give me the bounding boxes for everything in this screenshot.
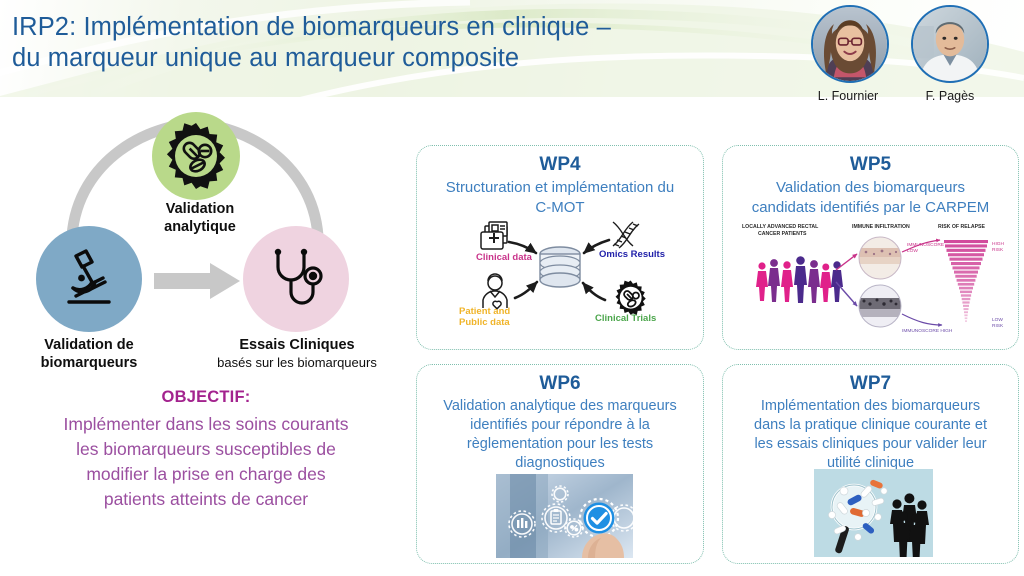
label-analytical-validation: Validation analytique — [140, 200, 260, 236]
wp5-annot-immunoscore-high: IMMUNOSCORE HIGH — [902, 328, 953, 334]
wp4-figure: Clinical data Omics Results Patient and … — [417, 220, 703, 330]
card-wp4[interactable]: WP4 Structuration et implémentation du C… — [416, 145, 704, 350]
wp6-title: WP6 — [417, 373, 703, 395]
page-title: IRP2: Implémentation de biomarqueurs en … — [12, 12, 712, 74]
person-card-1: L. Fournier — [811, 5, 889, 103]
wp5-title: WP5 — [723, 154, 1018, 176]
wp4-source-label-clinical-data: Clinical data — [476, 252, 533, 263]
magnifier-pills-people-icon — [814, 469, 933, 557]
patient-group-icon — [756, 256, 843, 303]
wp4-source-label-patient: Patient and — [459, 306, 510, 317]
wp5-figure: LOCALLY ADVANCED RECTAL CANCER PATIENTS … — [723, 218, 1018, 338]
wp6-figure — [496, 474, 633, 558]
wp7-figure — [814, 469, 933, 557]
wp4-title: WP4 — [417, 154, 703, 176]
card-wp5[interactable]: WP5 Validation des biomarqueurs candidat… — [722, 145, 1019, 350]
avatar — [811, 5, 889, 83]
label-clinical-trials-sub: basés sur les biomarqueurs — [206, 354, 388, 371]
wp7-title: WP7 — [723, 373, 1018, 395]
wp5-header-infiltration: IMMUNE INFILTRATION — [852, 224, 910, 230]
tissue-slide-icon — [859, 237, 901, 327]
person-card-2: F. Pagès — [911, 5, 989, 103]
person-name: F. Pagès — [911, 89, 989, 103]
wp4-description: Structuration et implémentation du C-MOT — [417, 176, 703, 218]
portrait-woman-icon — [813, 7, 887, 81]
node-clinical-trials — [243, 226, 349, 332]
biomarker-pipeline-diagram: Validation analytique Validation de biom… — [0, 104, 410, 374]
label-clinical-trials-main: Essais Cliniques — [206, 336, 388, 354]
risk-funnel-icon — [944, 240, 988, 322]
svg-text:RISK: RISK — [992, 323, 1004, 329]
objectif-block: OBJECTIF: Implémenter dans les soins cou… — [6, 388, 406, 512]
objectif-text: Implémenter dans les soins courants les … — [6, 412, 406, 512]
wp4-source-label-omics: Omics Results — [599, 249, 665, 260]
node-analytical-validation — [152, 112, 240, 200]
hand-touching-gears-checkmark-icon — [496, 474, 633, 558]
medical-folder-icon — [481, 222, 507, 249]
wp4-source-label-public: Public data — [459, 317, 510, 328]
avatar — [911, 5, 989, 83]
person-name: L. Fournier — [807, 89, 889, 103]
microscope-icon — [56, 246, 122, 312]
wp5-header-cohort: LOCALLY ADVANCED RECTAL — [742, 224, 819, 230]
portrait-man-icon — [913, 7, 987, 81]
svg-text:CANCER PATIENTS: CANCER PATIENTS — [758, 231, 807, 237]
objectif-heading: OBJECTIF: — [6, 388, 406, 407]
card-wp7[interactable]: WP7 Implémentation des biomarqueurs dans… — [722, 364, 1019, 564]
stethoscope-icon — [264, 247, 328, 311]
gear-pills-icon — [616, 281, 646, 315]
svg-text:LOW: LOW — [907, 248, 918, 254]
card-wp6[interactable]: WP6 Validation analytique des marqueurs … — [416, 364, 704, 564]
gear-pills-icon — [162, 122, 230, 190]
wp6-description: Validation analytique des marqueurs iden… — [417, 395, 703, 473]
wp5-description: Validation des biomarqueurs candidats id… — [723, 176, 1018, 218]
wp5-header-relapse: RISK OF RELAPSE — [938, 224, 986, 230]
wp7-description: Implémentation des biomarqueurs dans la … — [723, 395, 1018, 473]
wp5-annot-immunoscore-low: IMMUNOSCORE — [907, 242, 944, 248]
wp4-source-label-trials: Clinical Trials — [595, 313, 656, 324]
label-clinical-trials: Essais Cliniques basés sur les biomarque… — [206, 336, 388, 371]
wp5-annot-high-risk: HIGH — [992, 241, 1005, 247]
node-biomarker-validation — [36, 226, 142, 332]
immunoscore-diagram-icon: LOCALLY ADVANCED RECTAL CANCER PATIENTS … — [730, 218, 1012, 340]
database-icon — [540, 247, 580, 287]
dna-helix-icon — [613, 220, 639, 248]
right-arrow-icon — [152, 261, 242, 301]
label-biomarker-validation: Validation de biomarqueurs — [14, 336, 164, 372]
slide: IRP2: Implémentation de biomarqueurs en … — [0, 0, 1024, 576]
wp5-annot-low-risk: LOW — [992, 317, 1003, 323]
patient-icon — [483, 274, 507, 309]
data-flow-diagram-icon: Clinical data Omics Results Patient and … — [437, 220, 683, 328]
svg-text:RISK: RISK — [992, 247, 1004, 253]
